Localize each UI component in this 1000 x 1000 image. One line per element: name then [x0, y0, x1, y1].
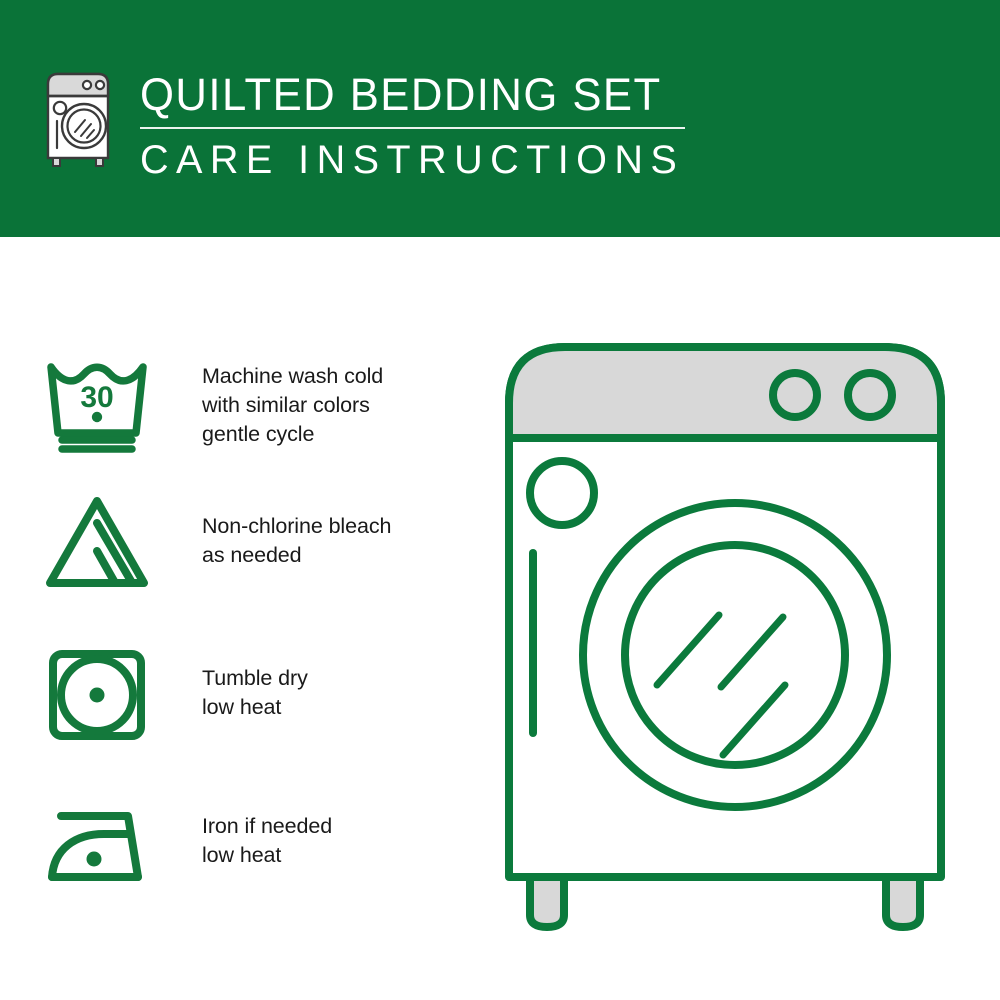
care-item-iron: Iron if needed low heat	[44, 794, 474, 898]
care-item-tumble-dry-text: Tumble dry low heat	[160, 642, 474, 722]
care-text-line: Machine wash cold	[202, 362, 474, 391]
care-text-line: Tumble dry	[202, 664, 474, 693]
care-text-line: Non-chlorine bleach	[202, 512, 474, 541]
page-title: QUILTED BEDDING SET	[140, 69, 683, 121]
wash-temperature-label: 30	[80, 381, 113, 414]
care-text-line: gentle cycle	[202, 420, 474, 449]
care-text-line: low heat	[202, 841, 474, 870]
wash-tub-30-icon: 30	[44, 352, 160, 456]
washing-machine-logo-icon	[44, 70, 112, 170]
washing-machine-illustration	[485, 325, 980, 945]
title-divider	[140, 127, 685, 129]
care-item-iron-text: Iron if needed low heat	[160, 794, 474, 870]
care-item-bleach: Non-chlorine bleach as needed	[44, 490, 474, 594]
care-item-wash-text: Machine wash cold with similar colors ge…	[160, 352, 474, 449]
tumble-dry-square-icon	[44, 642, 160, 746]
header-title-block: QUILTED BEDDING SET CARE INSTRUCTIONS	[140, 69, 700, 184]
care-text-line: low heat	[202, 693, 474, 722]
care-item-bleach-text: Non-chlorine bleach as needed	[160, 490, 474, 570]
care-instructions-infographic: QUILTED BEDDING SET CARE INSTRUCTIONS 30	[0, 0, 1000, 1000]
care-text-line: with similar colors	[202, 391, 474, 420]
iron-icon	[44, 794, 160, 898]
care-text-line: as needed	[202, 541, 474, 570]
care-text-line: Iron if needed	[202, 812, 474, 841]
care-item-wash: 30 Machine wash cold with similar colors…	[44, 352, 474, 456]
care-item-tumble-dry: Tumble dry low heat	[44, 642, 474, 746]
page-subtitle: CARE INSTRUCTIONS	[140, 136, 694, 184]
header-band: QUILTED BEDDING SET CARE INSTRUCTIONS	[0, 0, 1000, 237]
care-instruction-list: 30 Machine wash cold with similar colors…	[0, 237, 480, 1000]
bleach-triangle-icon	[44, 490, 160, 594]
